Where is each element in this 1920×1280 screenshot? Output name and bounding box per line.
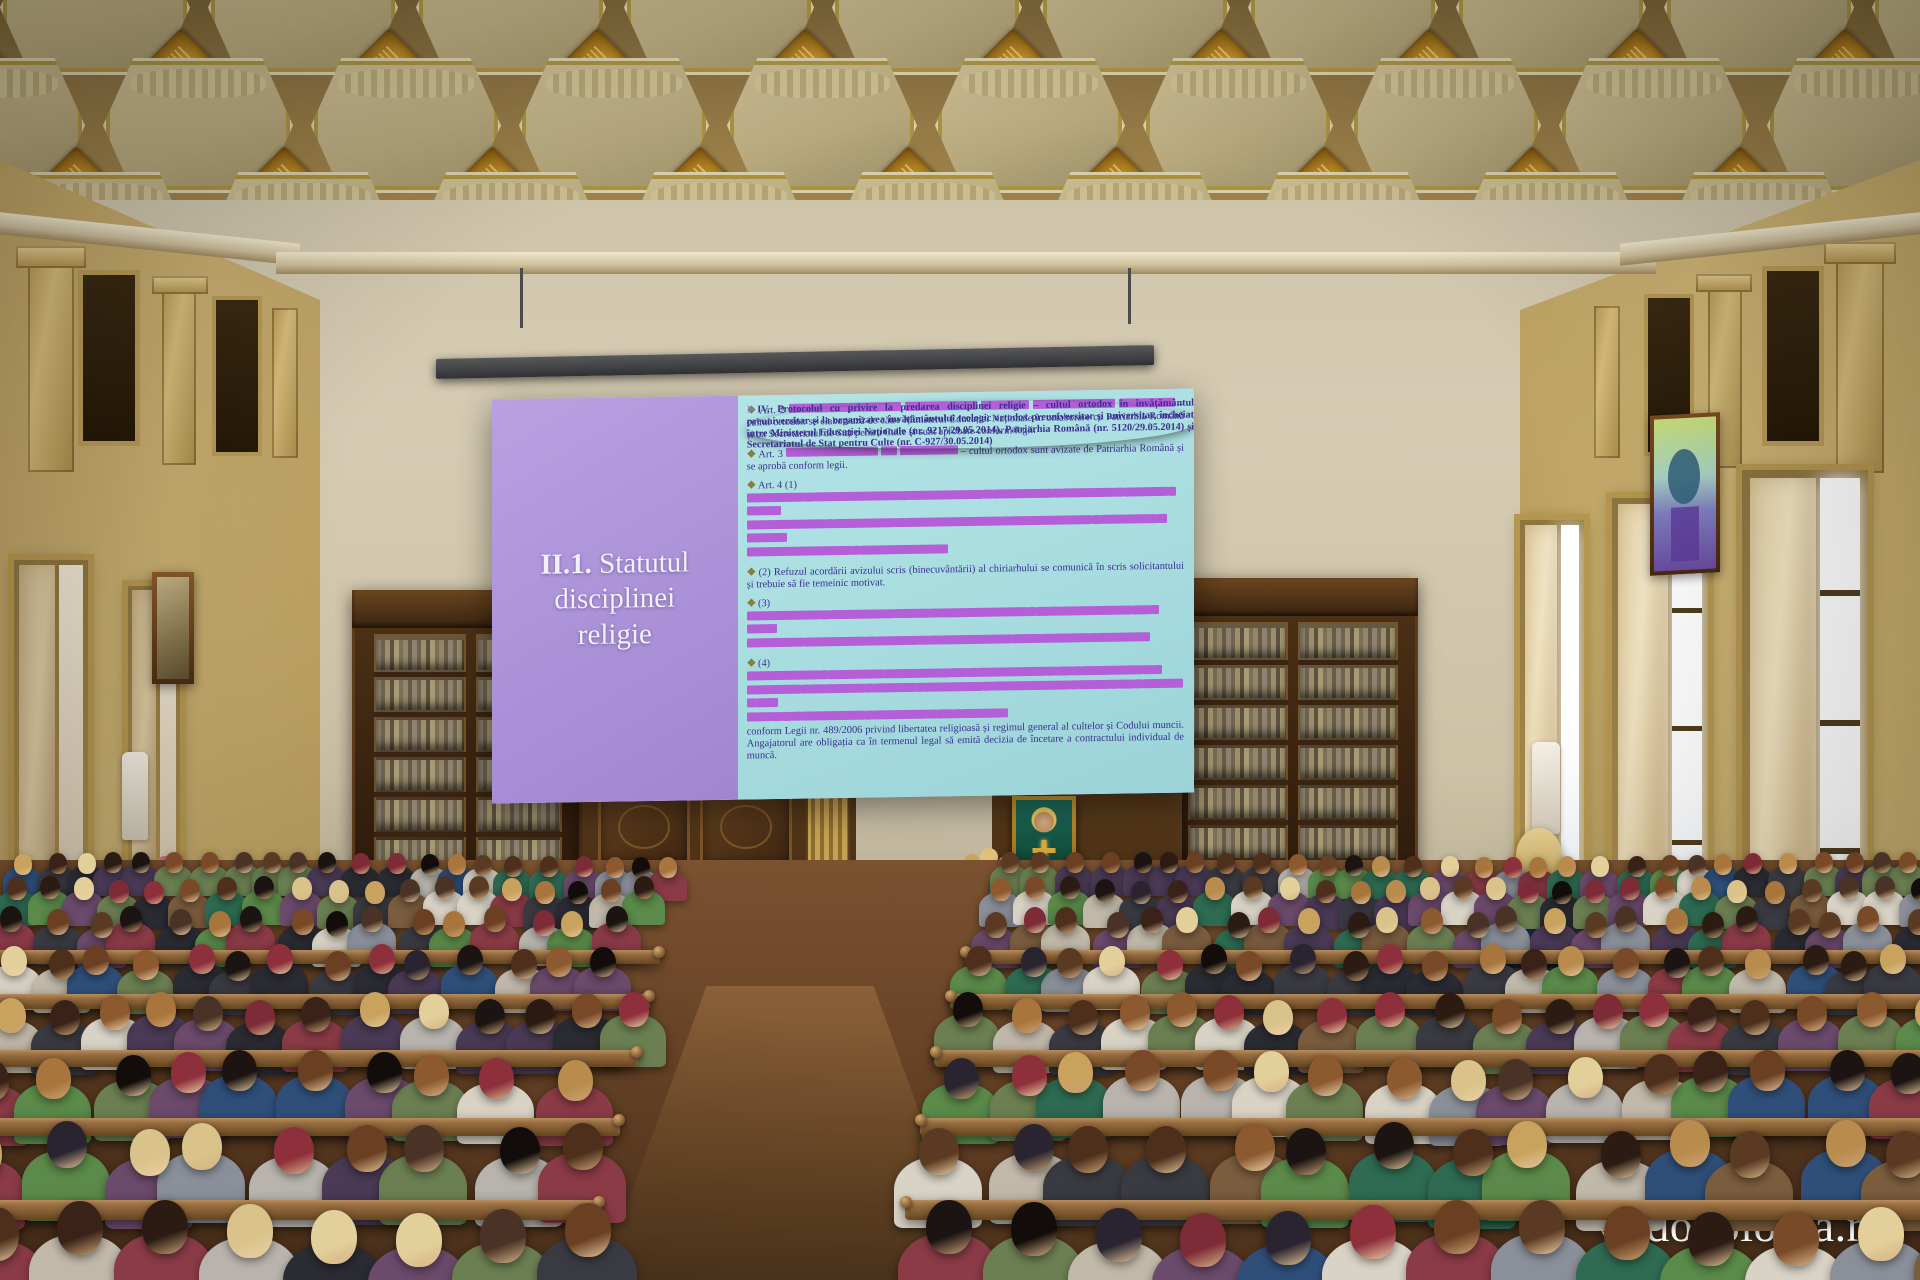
audience-member-head [1702,912,1724,938]
audience-member-head [419,994,449,1029]
audience-member-head [14,854,32,875]
audience-member-head [1387,1058,1422,1099]
audience-member-head [448,854,466,875]
audience-member-head [1167,992,1197,1027]
audience-member-head [116,1055,151,1096]
audience-member-head [132,852,150,873]
audience-member-head [1691,877,1711,900]
audience-member-head [1740,1000,1770,1035]
audience-member-head [7,877,27,900]
audience-member-head [1687,997,1717,1032]
audience-member-head [104,852,122,873]
audience-member-head [78,853,96,874]
audience-member-head [1857,906,1879,932]
audience-member-head [1421,908,1443,934]
audience-member-head [1688,855,1706,876]
audience-member-head [1486,877,1506,900]
audience-member-head [1057,948,1083,978]
audience-member-head [57,1201,103,1255]
audience-member-head [318,852,336,873]
audience-member-head [40,876,60,899]
audience-member-head [0,906,22,932]
audience-member-head [1290,944,1316,974]
audience-member-head [1376,907,1398,933]
audience-member-head [1519,880,1539,903]
audience-member-head [1435,993,1465,1028]
audience-member-head [1176,907,1198,933]
audience-member-head [182,1123,222,1170]
audience-member-head [1012,1055,1047,1096]
audience-member-head [1504,857,1522,878]
audience-member-head [435,876,455,899]
audience-member-head [146,992,176,1027]
audience-member-head [1891,1053,1920,1094]
audience-member-head [1451,1060,1486,1101]
audience-member-head [201,852,219,873]
audience-member-head [1134,852,1152,873]
audience-member-head [396,1213,442,1267]
audience-member-head [1217,853,1235,874]
audience-member-head [404,1125,444,1172]
audience-member-head [388,853,406,874]
audience-member-head [1377,944,1403,974]
audience-member-head [170,909,192,935]
audience-member-head [1714,854,1732,875]
audience-member-head [565,1203,611,1257]
audience-member-head [1826,1120,1866,1167]
audience-member-head [561,911,583,937]
audience-member-head [484,906,506,932]
audience-member-head [474,855,492,876]
audience-member-head [575,856,593,877]
audience-member-head [189,944,215,974]
audience-member-head [1498,1059,1533,1100]
audience-member-head [1875,876,1895,899]
audience-member-head [1495,906,1517,932]
audience-member-head [180,879,200,902]
audience-member-head [130,1129,170,1176]
audience-member-head [369,944,395,974]
audience-member-head [500,1127,540,1174]
audience-member-head [1601,1131,1641,1178]
audience-member-head [225,951,251,981]
audience-member-head [1060,876,1080,899]
audience-member-head [1745,949,1771,979]
audience-member-head [1802,879,1822,902]
audience-member-head [469,876,489,899]
audience-member-head [926,1200,972,1254]
audience-member-head [1585,912,1607,938]
audience-member-head [1201,944,1227,974]
audience-member-head [298,1050,333,1091]
audience-member-head [1727,880,1747,903]
audience-member-head [1880,944,1906,974]
audience-member-head [1146,1126,1186,1173]
audience-member-head [1441,856,1459,877]
audience-member-head [254,876,274,899]
audience-member-head [1521,949,1547,979]
audience-member-head [1001,852,1019,873]
audience-member-head [1420,877,1440,900]
audience-member-head [1591,856,1609,877]
pew-end-knob [613,1114,625,1126]
audience-member-head [361,906,383,932]
audience-member-head [480,1209,526,1263]
audience-member-head [193,996,223,1031]
audience-member-head [1254,1051,1289,1092]
audience-member-head [1021,947,1047,977]
audience-member-head [1343,951,1369,981]
audience-member-head [502,878,522,901]
audience-member-head [1819,912,1841,938]
audience-member-head [1350,1205,1396,1259]
audience-member-head [601,879,621,902]
audience-member-head [659,857,677,878]
audience-member-head [1141,907,1163,933]
audience-member-head [1475,857,1493,878]
audience-member-head [165,852,183,873]
audience-member-head [1730,1131,1770,1178]
audience-member-head [443,911,465,937]
audience-member-head [1214,995,1244,1030]
audience-member-head [1857,992,1887,1027]
audience-member-head [1797,996,1827,1031]
audience-member-head [1068,1126,1108,1173]
audience-member-head [1422,951,1448,981]
audience-member-head [479,1058,514,1099]
audience-member-head [1014,1124,1054,1171]
audience-member-head [944,1058,979,1099]
audience-member-head [301,997,331,1032]
audience-member-head [1670,1120,1710,1167]
conference-hall-photo: II.1. Statutul disciplinei religie ➤IV. … [0,0,1920,1280]
audience-member-head [1236,951,1262,981]
audience-member-head [109,880,129,903]
audience-member-head [1544,908,1566,934]
audience-member-head [235,852,253,873]
audience-member-head [1453,876,1473,899]
audience-member-head [953,992,983,1027]
audience-member-head [991,878,1011,901]
audience-member-head [1698,946,1724,976]
audience-member-head [1558,946,1584,976]
audience-member-head [74,877,94,900]
audience-member-head [1102,852,1120,873]
audience-member-head [142,1200,188,1254]
audience-member-head [267,944,293,974]
audience-member-head [511,949,537,979]
audience-member-head [1205,877,1225,900]
audience-member-head [133,950,159,980]
audience-member-head [1107,912,1129,938]
audience-member-head [457,945,483,975]
audience-member-head [1815,852,1833,873]
audience-member-head [1024,907,1046,933]
audience-member-head [329,880,349,903]
audience-member-head [240,906,262,932]
audience-member-head [1186,852,1204,873]
audience [0,0,1920,1280]
audience-member-head [1644,1054,1679,1095]
audience-member-head [1066,852,1084,873]
audience-member-head [1280,877,1300,900]
audience-member-head [360,992,390,1027]
audience-member-head [1873,852,1891,873]
audience-member-head [1585,880,1605,903]
audience-member-head [421,854,439,875]
audience-member-head [274,1127,314,1174]
audience-member-head [1058,1052,1093,1093]
audience-member-head [1243,876,1263,899]
audience-member-head [47,1121,87,1168]
audience-member-head [245,1000,275,1035]
audience-member-head [1604,1206,1650,1260]
audience-member-head [1615,906,1637,932]
audience-member-head [1298,908,1320,934]
audience-member-head [144,881,164,904]
audience-member-head [1736,906,1758,932]
audience-member-head [546,947,572,977]
audience-member-head [572,993,602,1028]
audience-member-head [1031,852,1049,873]
audience-member-head [1265,1211,1311,1265]
audience-member-head [1666,908,1688,934]
audience-member-head [289,852,307,873]
audience-member-head [1055,907,1077,933]
audience-member-head [563,1123,603,1170]
audience-member-head [50,1000,80,1035]
audience-member-head [209,911,231,937]
audience-member-head [1529,857,1547,878]
audience-member-head [1846,852,1864,873]
audience-member-head [325,951,351,981]
audience-member-head [347,1125,387,1172]
audience-member-head [634,876,654,899]
audience-member-head [49,853,67,874]
audience-member-head [1235,1124,1275,1171]
audience-member-head [1841,951,1867,981]
audience-member-head [1620,877,1640,900]
audience-member-head [1168,880,1188,903]
audience-member-head [1639,992,1669,1027]
audience-member-head [1095,879,1115,902]
audience-member-head [1519,1200,1565,1254]
audience-member-head [1467,912,1489,938]
pew-end-knob [653,946,665,958]
audience-member-head [0,998,26,1033]
audience-member-head [1,946,27,976]
audience-member-head [91,912,113,938]
audience-member-head [1228,912,1250,938]
audience-member-head [1386,880,1406,903]
audience-member-head [1348,912,1370,938]
audience-member-head [568,881,588,904]
audience-member-head [1317,998,1347,1033]
audience-member-head [292,877,312,900]
audience-member-head [1120,995,1150,1030]
audience-member-head [1744,853,1762,874]
audience-member-head [1434,1200,1480,1254]
audience-member-head [1351,881,1371,904]
audience-member-head [1593,994,1623,1029]
audience-member-head [1372,856,1390,877]
audience-member-head [1773,1212,1819,1266]
audience-member-head [1203,1050,1238,1091]
audience-member-head [413,909,435,935]
audience-member-head [1655,876,1675,899]
audience-member-head [311,1210,357,1264]
audience-member-head [400,879,420,902]
audience-member-head [1779,853,1797,874]
audience-member-head [1480,944,1506,974]
audience-member-head [1316,880,1336,903]
audience-member-head [1830,1050,1865,1091]
room: II.1. Statutul disciplinei religie ➤IV. … [0,0,1920,1280]
audience-member-head [49,949,75,979]
audience-member-head [1157,950,1183,980]
audience-member-head [36,1058,71,1099]
audience-member-head [966,946,992,976]
audience-member-head [1453,1129,1493,1176]
audience-member-head [606,857,624,878]
audience-member-head [1765,881,1785,904]
audience-member-head [1011,1202,1057,1256]
audience-member-head [1545,999,1575,1034]
audience-member-head [1858,1207,1904,1261]
pew-bench [920,1118,1920,1136]
audience-member-head [504,856,522,877]
audience-member-head [1289,854,1307,875]
audience-member-head [1839,876,1859,899]
pew-end-knob [631,1046,643,1058]
audience-member-head [1374,1122,1414,1169]
audience-member-head [540,856,558,877]
audience-member-head [414,1055,449,1096]
audience-member-head [1258,907,1280,933]
audience-member-head [1688,1212,1734,1266]
audience-member-head [352,853,370,874]
audience-member-head [1319,855,1337,876]
audience-member-head [120,906,142,932]
audience-member-head [1693,1051,1728,1092]
audience-member-head [1899,852,1917,873]
audience-member-head [1180,1213,1226,1267]
audience-member-head [1492,999,1522,1034]
audience-member-head [1253,853,1271,874]
audience-member-head [1131,881,1151,904]
audience-member-head [1628,856,1646,877]
pew-bench [905,1200,1920,1220]
audience-member-head [1345,855,1363,876]
audience-member-head [1025,876,1045,899]
audience-member-head [533,910,555,936]
audience-member-head [1012,998,1042,1033]
audience-member-head [919,1128,959,1175]
audience-member-head [1552,881,1572,904]
audience-member-head [1308,1055,1343,1096]
audience-member-head [590,947,616,977]
audience-member-head [619,992,649,1027]
audience-member-head [47,909,69,935]
audience-member-head [1803,945,1829,975]
audience-member-head [263,852,281,873]
audience-member-head [367,1052,402,1093]
audience-member-head [1286,1128,1326,1175]
audience-member-head [1099,946,1125,976]
audience-member-head [1404,856,1422,877]
audience-member-head [1558,856,1576,877]
audience-member-head [1788,909,1810,935]
audience-member-head [227,1204,273,1258]
audience-member-head [1375,992,1405,1027]
audience-member-head [217,877,237,900]
audience-member-head [83,945,109,975]
audience-member-head [171,1052,206,1093]
audience-member-head [1750,1050,1785,1091]
audience-member-head [1096,1208,1142,1262]
audience-member-head [525,999,555,1034]
audience-member-head [1664,948,1690,978]
audience-member-head [1507,1121,1547,1168]
audience-member-head [1160,852,1178,873]
audience-member-head [1263,1000,1293,1035]
audience-member-head [985,912,1007,938]
audience-member-head [1568,1057,1603,1098]
audience-member-head [632,857,650,878]
audience-member-head [222,1050,257,1091]
audience-member-head [558,1060,593,1101]
audience-member-head [100,995,130,1030]
audience-member-head [1068,1000,1098,1035]
audience-member-head [365,881,385,904]
audience-member-head [1125,1050,1160,1091]
audience-member-head [1661,855,1679,876]
audience-member-head [404,950,430,980]
audience-member-head [326,911,348,937]
audience-member-head [475,999,505,1034]
audience-member-head [1886,1131,1920,1178]
audience-member-head [606,906,628,932]
audience-member-head [1613,948,1639,978]
audience-member-head [535,881,555,904]
audience-member-head [292,909,314,935]
